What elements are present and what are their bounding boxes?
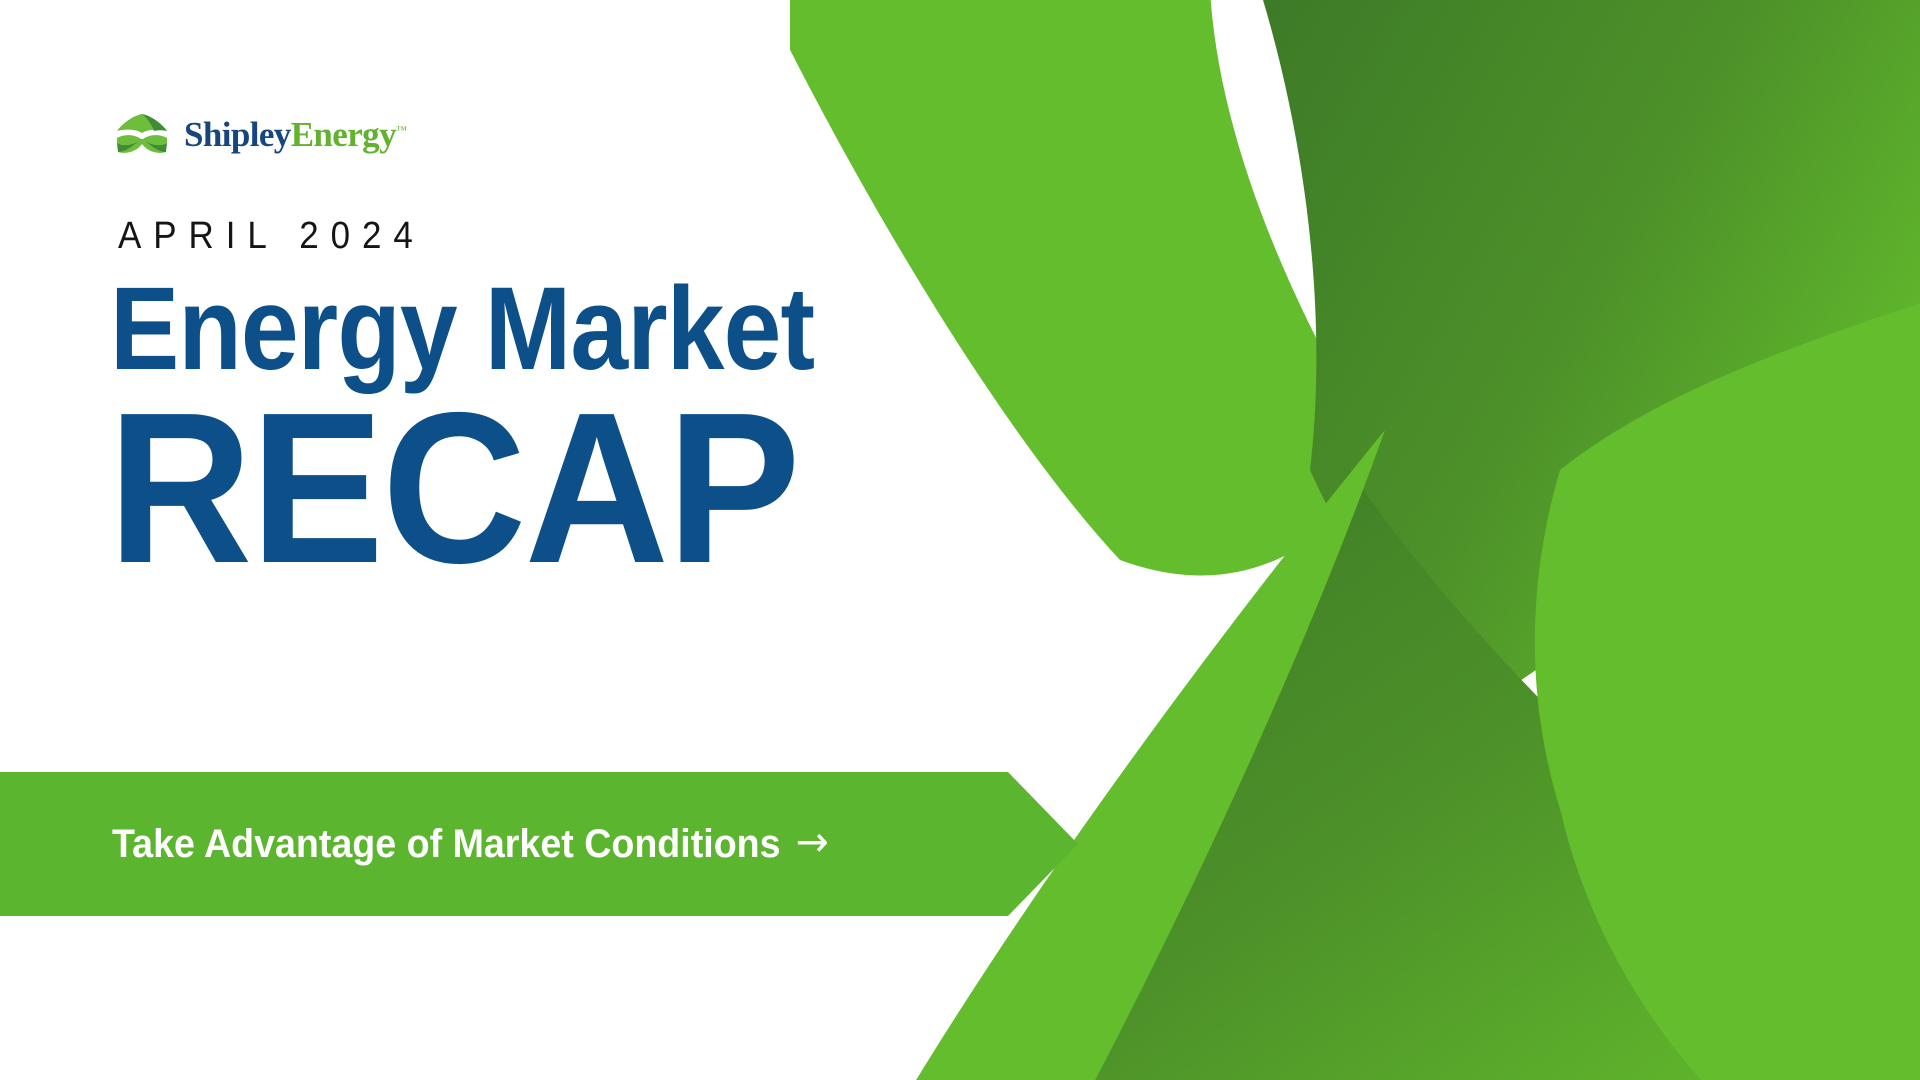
cta-banner[interactable]: Take Advantage of Market Conditions →: [0, 772, 1078, 916]
ribbon-wedge-lower-right: [1546, 330, 1920, 1080]
issue-date-eyebrow: APRIL 2024: [118, 215, 425, 258]
trademark-symbol: ™: [396, 124, 406, 136]
logo-word-energy: Energy: [291, 115, 396, 154]
ribbon-blade-upper-left: [790, 0, 1390, 576]
ribbon-lobe-lower-right: [1535, 300, 1920, 1080]
logo-wordmark: ShipleyEnergy™: [184, 117, 406, 152]
ribbon-edge-lower-left: [910, 430, 1385, 1080]
green-x-ribbon-graphic: [790, 0, 1920, 1080]
arrow-right-icon: →: [796, 821, 829, 863]
shipley-energy-logo[interactable]: ShipleyEnergy™: [114, 112, 406, 156]
page-title-line-2: RECAP: [108, 380, 799, 595]
poster-canvas: ShipleyEnergy™ APRIL 2024 Energy Market …: [0, 0, 1920, 1080]
cta-label-text: Take Advantage of Market Conditions: [112, 822, 781, 867]
ribbon-blade-upper-right: [1260, 0, 1920, 700]
shipley-leaf-mark-icon: [114, 112, 170, 156]
logo-word-shipley: Shipley: [184, 115, 291, 154]
ribbon-blade-lower-dark: [1090, 470, 1880, 1080]
cta-label-group[interactable]: Take Advantage of Market Conditions →: [112, 772, 829, 916]
